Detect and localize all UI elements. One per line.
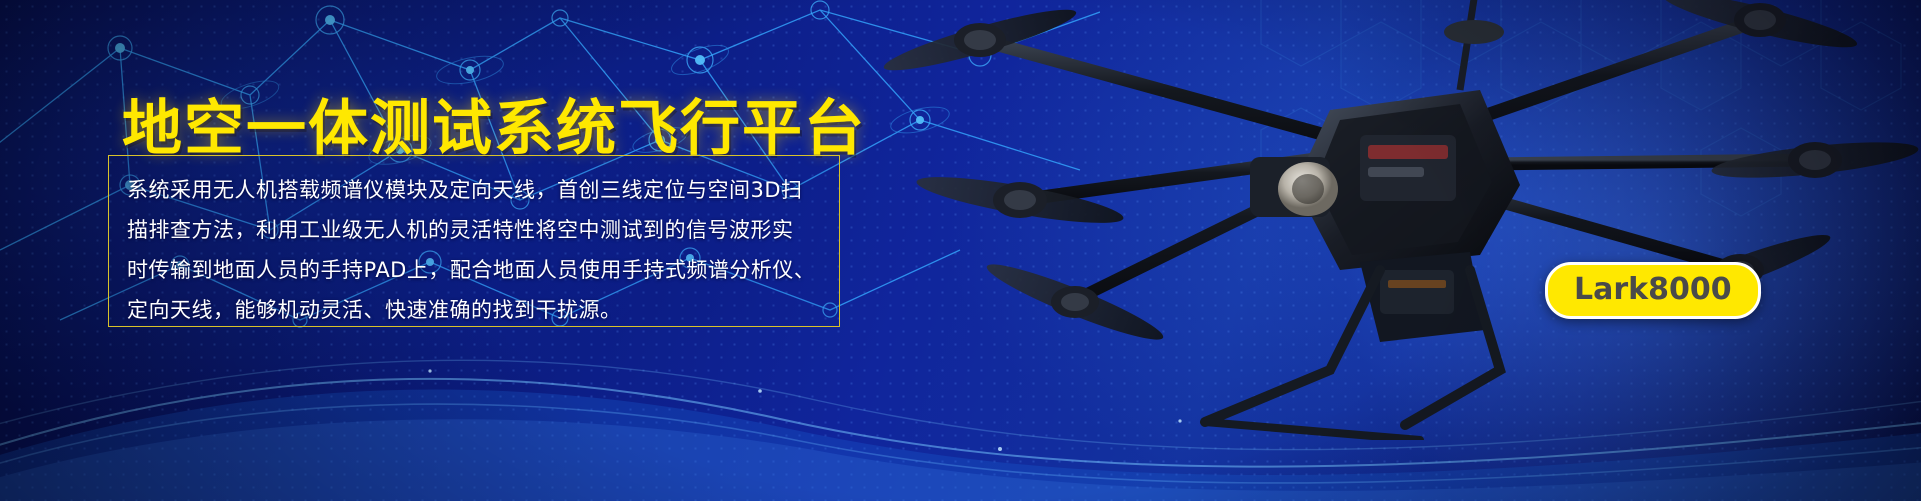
product-model-badge: Lark8000 [1545,262,1761,319]
promo-banner: 地空一体测试系统飞行平台 系统采用无人机搭载频谱仪模块及定向天线，首创三线定位与… [0,0,1921,501]
page-title: 地空一体测试系统飞行平台 [122,80,866,167]
description-line: 描排查方法，利用工业级无人机的灵活特性将空中测试到的信号波形实 [127,210,821,250]
description-box: 系统采用无人机搭载频谱仪模块及定向天线，首创三线定位与空间3D扫 描排查方法，利… [108,155,840,327]
description-line: 时传输到地面人员的手持PAD上，配合地面人员使用手持式频谱分析仪、 [127,250,821,290]
description-line: 系统采用无人机搭载频谱仪模块及定向天线，首创三线定位与空间3D扫 [127,170,821,210]
description-line: 定向天线，能够机动灵活、快速准确的找到干扰源。 [127,290,821,330]
light-wave-graphic [0,301,1921,501]
